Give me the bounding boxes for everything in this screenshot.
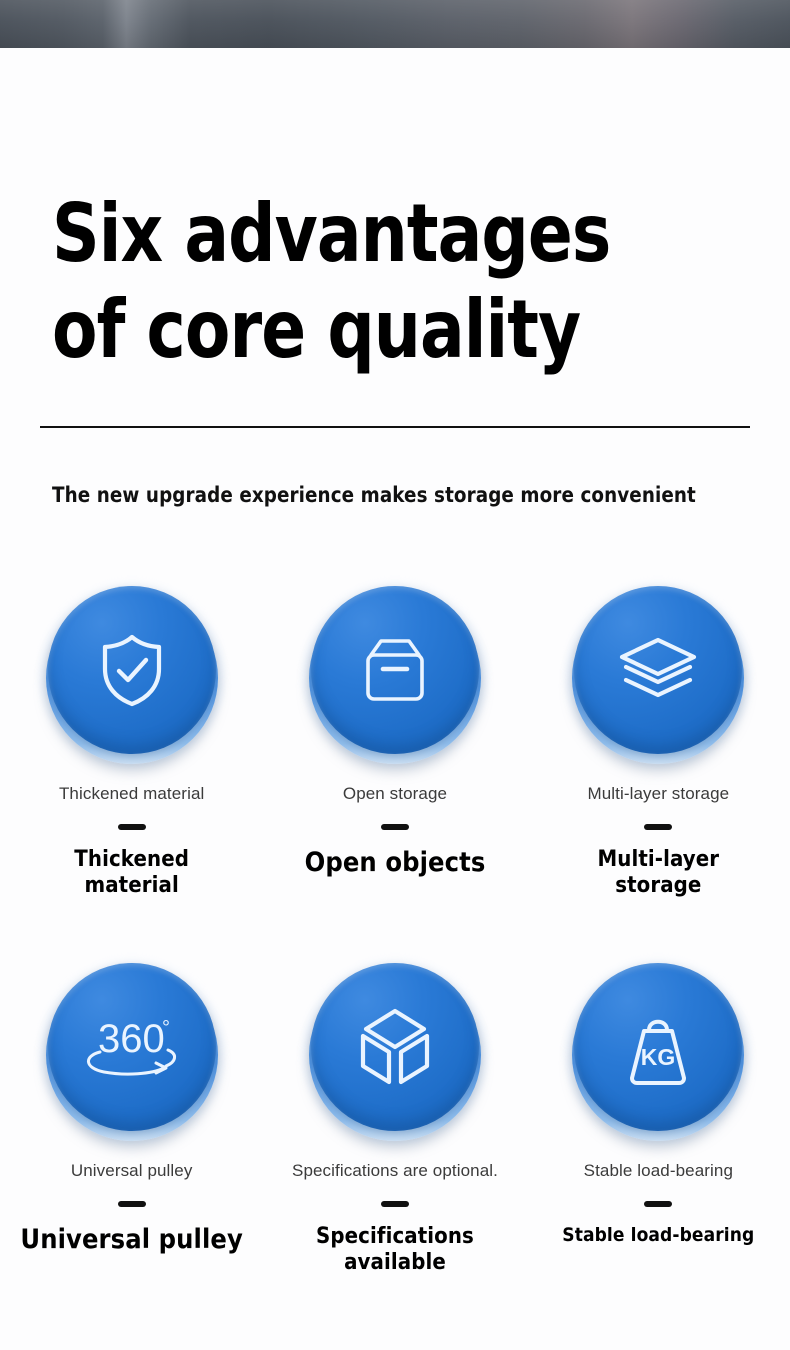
badge-face: [574, 586, 742, 754]
band-gloss-overlay: [0, 0, 790, 48]
feature-title: Specifications available: [277, 1224, 512, 1276]
top-decorative-band: [0, 0, 790, 48]
archive-box-icon: [357, 633, 433, 707]
feature-card: Multi-layer storage Multi-layer storage: [527, 580, 790, 899]
feature-card: Specifications are optional. Specificati…: [263, 957, 526, 1276]
feature-caption: Multi-layer storage: [587, 784, 729, 804]
feature-dash-divider: [118, 824, 146, 830]
feature-caption: Universal pulley: [71, 1161, 193, 1181]
feature-title: Open objects: [305, 847, 486, 879]
page-title: Six advantages of core quality: [52, 186, 696, 378]
feature-grid: Thickened material Thickened material Op…: [0, 580, 790, 1276]
feature-card: Thickened material Thickened material: [0, 580, 263, 899]
feature-title: Thickened material: [57, 847, 207, 899]
feature-card: 360 ° Universal pulley Universal pulley: [0, 957, 263, 1276]
stacked-layers-icon: [616, 635, 700, 705]
rotation-degree-symbol: °: [162, 1017, 170, 1039]
shield-check-icon: [95, 631, 169, 709]
feature-badge: 360 °: [38, 957, 226, 1145]
feature-card: Open storage Open objects: [263, 580, 526, 899]
feature-title: Stable load-bearing: [562, 1224, 754, 1246]
weight-kg-icon: KG: [618, 1006, 698, 1088]
badge-face: [311, 586, 479, 754]
rotation-360-icon: 360 °: [78, 1014, 186, 1080]
feature-caption: Open storage: [343, 784, 447, 804]
infographic-page: Six advantages of core quality The new u…: [0, 0, 790, 1350]
feature-dash-divider: [381, 824, 409, 830]
cube-3d-icon: [356, 1006, 434, 1088]
title-divider-rule: [40, 426, 750, 428]
feature-badge: KG: [564, 957, 752, 1145]
weight-unit-label: KG: [641, 1044, 676, 1070]
feature-badge: [301, 957, 489, 1145]
badge-face: 360 °: [48, 963, 216, 1131]
page-subtitle: The new upgrade experience makes storage…: [52, 483, 696, 507]
feature-dash-divider: [118, 1201, 146, 1207]
rotation-360-value: 360: [98, 1017, 165, 1061]
badge-face: [311, 963, 479, 1131]
feature-badge: [564, 580, 752, 768]
feature-badge: [38, 580, 226, 768]
feature-badge: [301, 580, 489, 768]
feature-title: Universal pulley: [20, 1224, 243, 1256]
feature-caption: Thickened material: [59, 784, 204, 804]
feature-caption: Specifications are optional.: [292, 1161, 498, 1181]
feature-dash-divider: [644, 1201, 672, 1207]
feature-dash-divider: [381, 1201, 409, 1207]
feature-title: Multi-layer storage: [583, 847, 733, 899]
feature-dash-divider: [644, 824, 672, 830]
badge-face: KG: [574, 963, 742, 1131]
feature-caption: Stable load-bearing: [584, 1161, 733, 1181]
badge-face: [48, 586, 216, 754]
feature-card: KG Stable load-bearing Stable load-beari…: [527, 957, 790, 1276]
